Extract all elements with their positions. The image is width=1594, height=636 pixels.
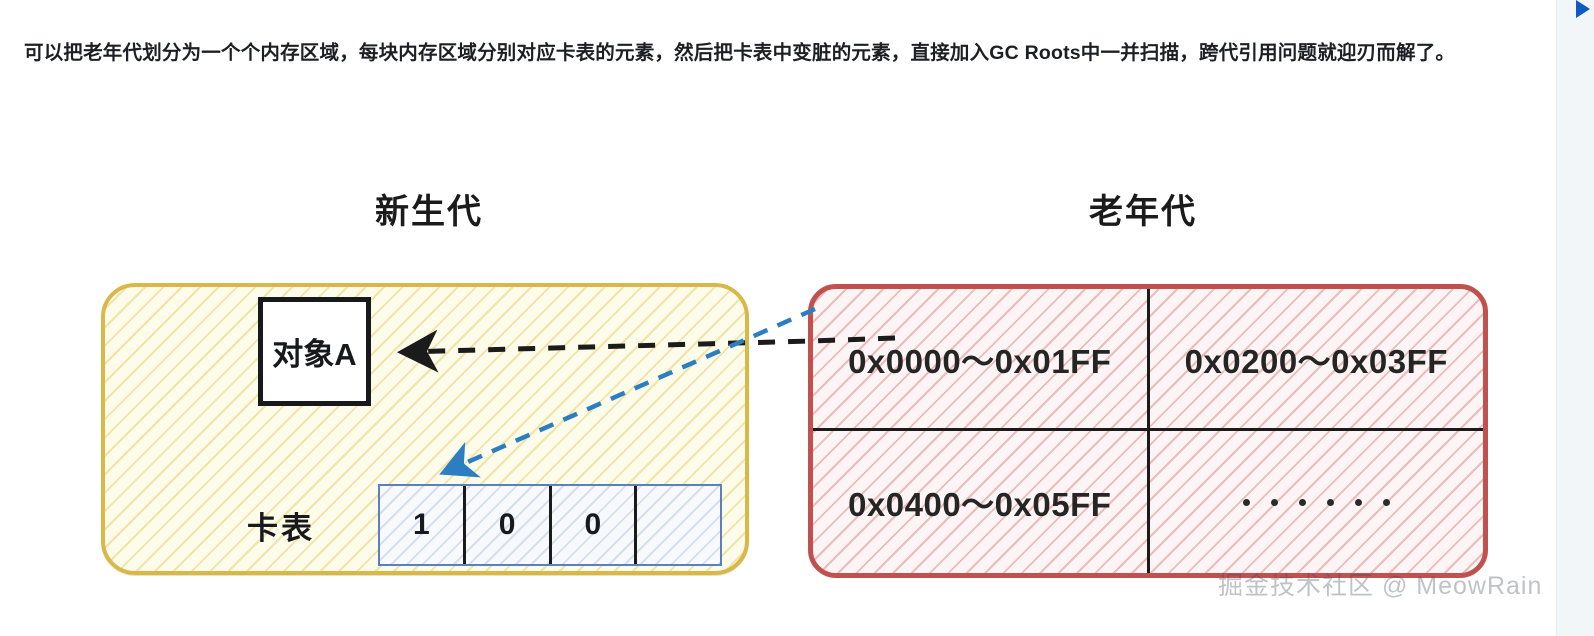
old-generation-region: 0x0000～0x01FF 0x0200～0x03FF 0x0400～0x05F… [808, 284, 1488, 578]
old-generation-row: 0x0400～0x05FF [813, 431, 1483, 573]
object-a-label: 对象A [272, 329, 356, 374]
card-table-cell: 0 [552, 486, 638, 564]
play-triangle-icon[interactable] [1576, 0, 1590, 18]
memory-region-cell: 0x0400～0x05FF [813, 431, 1150, 573]
old-generation-title: 老年代 [1089, 184, 1197, 233]
page-gutter [1556, 0, 1594, 636]
old-generation-row: 0x0000～0x01FF 0x0200～0x03FF [813, 289, 1483, 431]
page-root: 可以把老年代划分为一个个内存区域，每块内存区域分别对应卡表的元素，然后把卡表中变… [0, 0, 1594, 636]
card-table-diagram: 新生代 老年代 对象A 卡表 1 0 0 0x0000～0x01FF 0x020… [0, 0, 1556, 636]
card-table: 1 0 0 [378, 484, 722, 566]
memory-region-cell: 0x0000～0x01FF [813, 289, 1150, 428]
card-table-label: 卡表 [247, 503, 315, 548]
memory-region-cell: 0x0200～0x03FF [1150, 289, 1484, 428]
object-a-box: 对象A [258, 297, 371, 406]
card-table-cell: 0 [466, 486, 552, 564]
ellipsis-dots-icon [1243, 499, 1390, 506]
card-table-cell: 1 [380, 486, 466, 564]
watermark: 掘金技术社区 @ MeowRain [1218, 566, 1542, 602]
card-table-cell [637, 486, 720, 564]
memory-region-ellipsis [1150, 431, 1484, 573]
young-generation-title: 新生代 [375, 184, 483, 233]
